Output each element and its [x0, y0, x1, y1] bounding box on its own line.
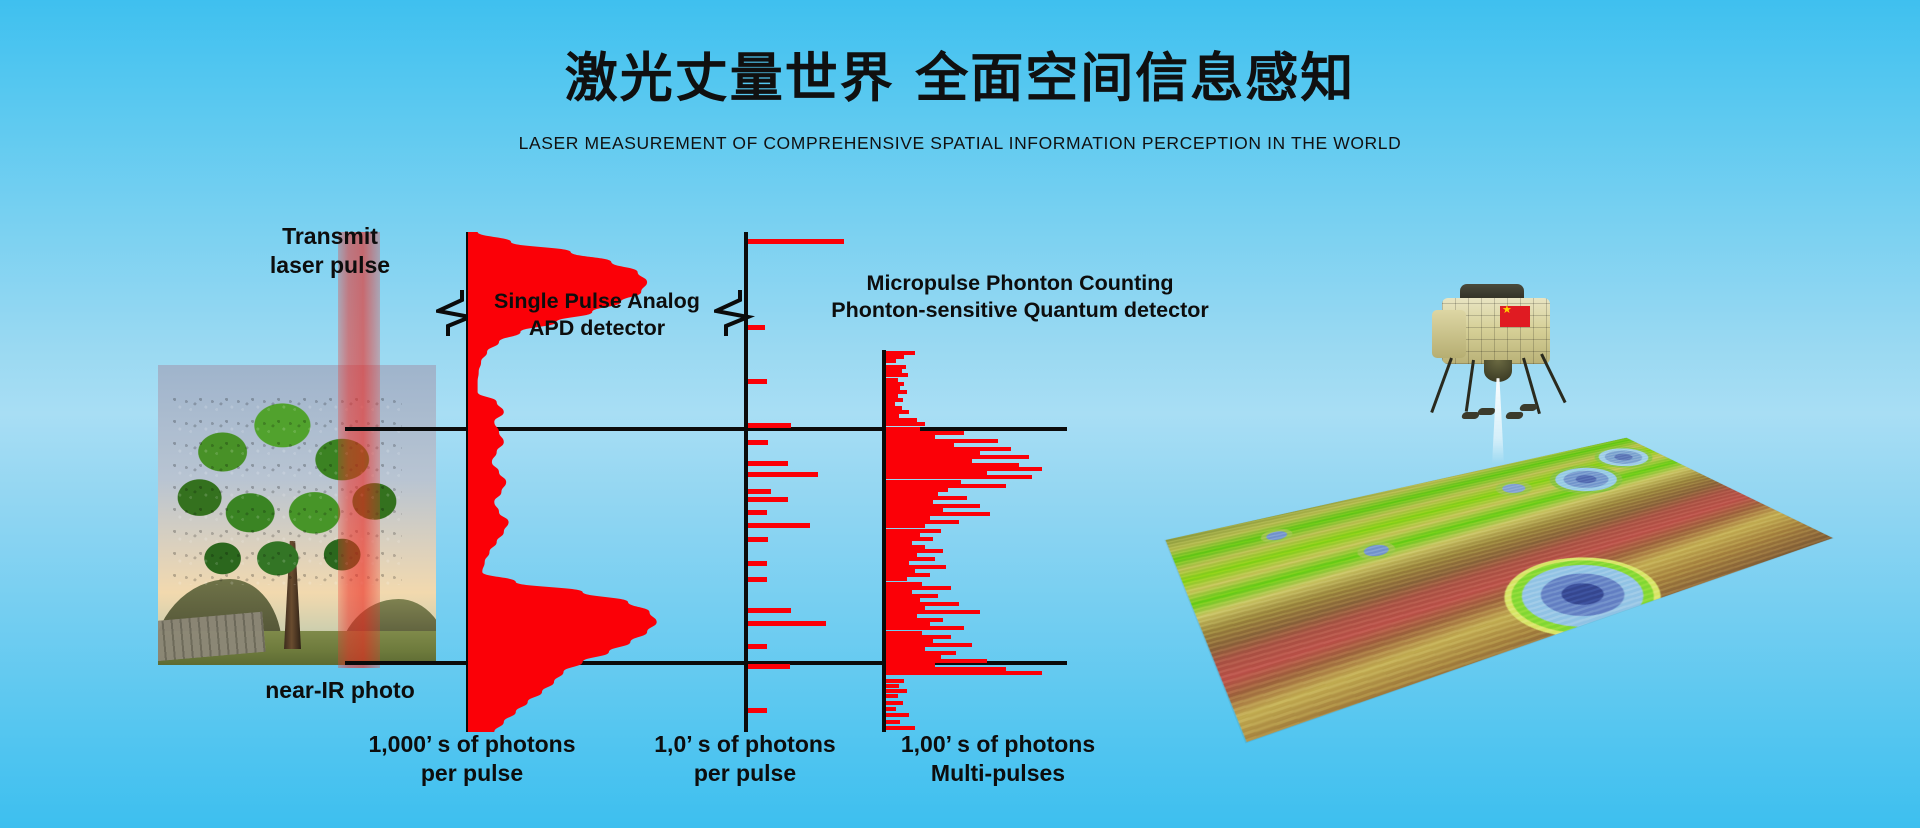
photon-bar: [748, 379, 767, 384]
photon-bar: [748, 472, 818, 477]
photon-bar: [748, 510, 767, 515]
axis-caption-2: 1,0’ s of photons per pulse: [630, 730, 860, 787]
photon-bar: [748, 537, 768, 542]
photon-bar: [748, 561, 767, 566]
near-ir-photo-block: [158, 365, 436, 665]
photon-bar: [886, 713, 909, 717]
laser-beam-icon: [338, 232, 380, 668]
detector-1-label: Single Pulse Analog APD detector: [472, 288, 722, 341]
lunar-lander-icon: [1426, 280, 1566, 420]
photon-bar: [748, 664, 790, 669]
lander-side-module: [1432, 310, 1466, 358]
photon-bar: [886, 689, 907, 693]
waveform-photon-counting-bars: [886, 350, 1086, 732]
china-flag-icon: [1500, 306, 1530, 327]
tree-photo: [158, 365, 436, 665]
lander-leg: [1540, 353, 1566, 403]
terrain-dem-surface: [1166, 438, 1833, 742]
lander-foot-pad: [1477, 408, 1496, 415]
photon-bar: [886, 720, 900, 724]
photon-bar: [748, 423, 791, 428]
photon-bar: [886, 684, 899, 688]
photon-bar: [748, 708, 767, 713]
photon-bar: [748, 577, 767, 582]
poster-canvas: 激光丈量世界 全面空间信息感知 LASER MEASUREMENT OF COM…: [0, 0, 1920, 828]
photon-bar: [748, 239, 844, 244]
detector-2-label: Micropulse Phonton Counting Phonton-sens…: [810, 270, 1230, 323]
near-ir-photo-label: near-IR photo: [210, 676, 470, 705]
header: 激光丈量世界 全面空间信息感知 LASER MEASUREMENT OF COM…: [0, 48, 1920, 154]
photon-bar: [886, 671, 1042, 675]
photon-bar: [748, 523, 810, 528]
photon-bar: [886, 707, 896, 711]
lander-foot-pad: [1519, 404, 1538, 411]
photon-bar: [748, 621, 826, 626]
lander-leg: [1465, 360, 1475, 412]
photon-bar: [748, 440, 768, 445]
lidar-terrain-block: [1180, 280, 1820, 710]
photon-bar: [748, 461, 788, 466]
axis-caption-3: 1,00’ s of photons Multi-pulses: [878, 730, 1118, 787]
photon-bar: [748, 608, 791, 613]
lander-foot-pad: [1505, 412, 1524, 419]
page-title: 激光丈量世界 全面空间信息感知: [0, 48, 1920, 111]
photon-bar: [748, 497, 788, 502]
engine-plume-icon: [1492, 378, 1504, 464]
page-subtitle: LASER MEASUREMENT OF COMPREHENSIVE SPATI…: [0, 133, 1920, 154]
photon-bar: [748, 325, 765, 330]
transmit-laser-pulse-label: Transmit laser pulse: [230, 222, 430, 279]
photon-bar: [886, 359, 896, 363]
photon-bar: [748, 489, 771, 494]
photon-bar: [886, 694, 898, 698]
photon-bar: [748, 644, 767, 649]
lander-leg: [1430, 357, 1453, 413]
photon-bar: [886, 701, 903, 705]
axis-caption-1: 1,000’ s of photons per pulse: [352, 730, 592, 787]
photon-bar: [886, 679, 904, 683]
